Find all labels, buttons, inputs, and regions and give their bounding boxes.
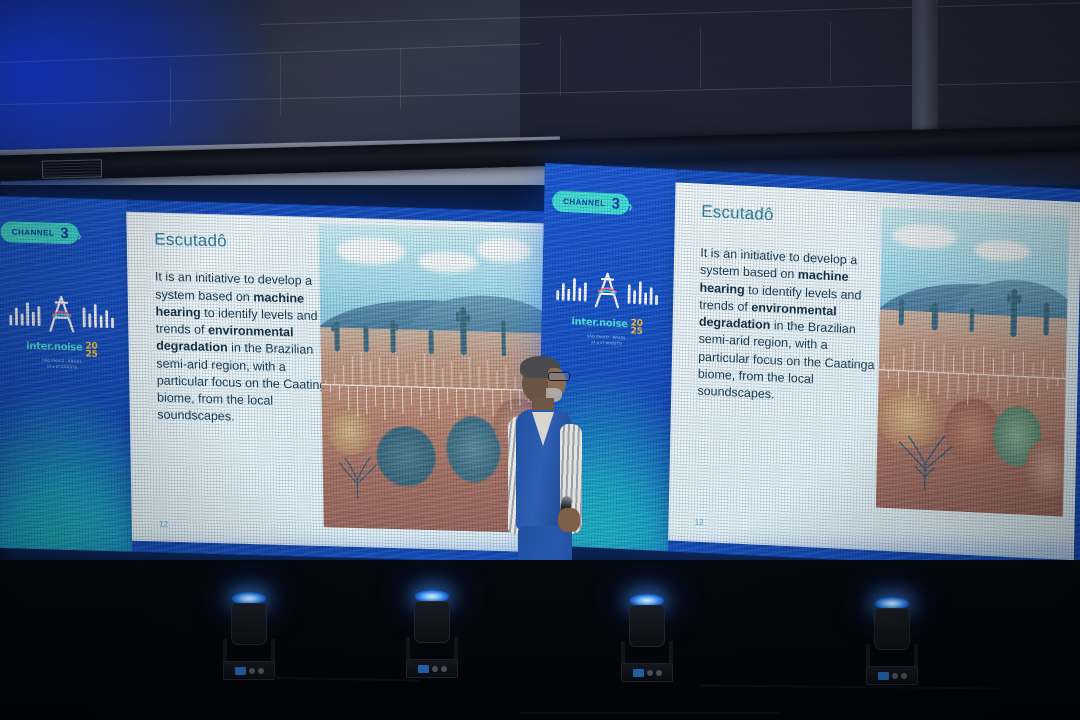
slide-content-card: Escutadô It is an initiative to develop … [127, 212, 550, 553]
logo-year: 20 25 [85, 343, 97, 359]
light-yoke [621, 641, 673, 663]
light-yoke [223, 639, 275, 661]
logo-year: 20 25 [630, 319, 642, 336]
light-yoke [866, 644, 918, 666]
wordmark-text: inter.noise [26, 341, 82, 354]
light-display [878, 672, 889, 680]
light-display [633, 669, 644, 677]
light-knob [892, 673, 898, 679]
bare-tree [327, 424, 387, 529]
light-base [621, 663, 673, 682]
logo-dates: 24 a 27 AGOSTO [591, 341, 622, 348]
light-knob [441, 666, 447, 672]
logo-dates: 24 a 27 AGOSTO [47, 365, 78, 371]
channel-number: 3 [60, 226, 69, 241]
tower-soundwave-logo-icon [552, 267, 663, 318]
wordmark-text: inter.noise [571, 317, 627, 331]
bare-tree [887, 406, 964, 517]
ceiling-panel-seam [400, 48, 401, 108]
slide-title: Escutadô [154, 229, 227, 251]
light-knob [249, 668, 255, 674]
internoise-wordmark: inter.noise 20 25 [571, 317, 642, 336]
slide-body-text: It is an initiative to develop a system … [697, 245, 879, 409]
caatinga-photo [876, 207, 1069, 516]
slide-left: CHANNEL 3 › [0, 196, 559, 564]
channel-badge: CHANNEL 3 [0, 221, 78, 244]
slide-right: CHANNEL 3 › [537, 163, 1080, 572]
slide-page-number: 12 [159, 520, 168, 529]
slide-sidebar: CHANNEL 3 › [0, 196, 133, 552]
light-display [418, 665, 429, 673]
presenter-glasses [548, 372, 570, 381]
ceiling-panel-seam [170, 66, 171, 126]
chevron-right-icon: › [628, 200, 633, 215]
tower-soundwave-logo-icon [4, 291, 118, 340]
ceiling-panel-seam [280, 55, 281, 115]
cactus [898, 298, 904, 325]
channel-label: CHANNEL [563, 197, 606, 208]
channel-label: CHANNEL [12, 227, 55, 237]
left-led-screen: CHANNEL 3 › [0, 196, 559, 564]
moving-head-light [620, 594, 674, 682]
internoise-wordmark: inter.noise 20 25 [26, 341, 98, 359]
light-knob [901, 673, 907, 679]
internoise-logo: inter.noise 20 25 SÃO PAULO - BRAZIL 24 … [4, 291, 118, 371]
light-yoke [406, 637, 458, 659]
cactus [969, 308, 974, 332]
slide-content-card: Escutadô It is an initiative to develop … [668, 183, 1080, 560]
internoise-logo: inter.noise 20 25 SÃO PAULO - BRAZIL 24 … [552, 267, 663, 350]
cactus [932, 303, 938, 330]
light-knob [432, 666, 438, 672]
light-knob [656, 670, 662, 676]
presentation-stage-photo: CHANNEL 3 › [0, 0, 1080, 720]
slide-page-number: 12 [695, 518, 704, 527]
ceiling-panel-seam [830, 22, 831, 82]
presenter-hands [558, 508, 580, 532]
right-led-screen: CHANNEL 3 › [537, 163, 1080, 572]
light-knob [647, 670, 653, 676]
ceiling-column [912, 0, 938, 150]
channel-number: 3 [611, 196, 620, 211]
sidebar-wave-shape [0, 385, 133, 552]
slide-body-text: It is an initiative to develop a system … [155, 269, 341, 429]
cactus [1010, 289, 1017, 337]
ceiling-panel-seam [560, 36, 561, 96]
ceiling-panel-seam [700, 28, 701, 88]
moving-head-light [865, 597, 919, 685]
slide-title: Escutadô [701, 202, 774, 226]
shrub [1025, 436, 1068, 498]
light-display [235, 667, 246, 675]
cactus [460, 307, 467, 356]
light-base [406, 659, 458, 678]
light-base [866, 666, 918, 685]
moving-head-light [405, 590, 459, 678]
light-knob [258, 668, 264, 674]
moving-head-light [222, 592, 276, 680]
chevron-right-icon: › [77, 228, 82, 243]
channel-badge: CHANNEL 3 [552, 190, 630, 215]
air-vent-grille [42, 159, 102, 179]
stage-cable [520, 712, 780, 714]
audio-waveform-overlay [878, 333, 1066, 414]
cactus [1044, 302, 1050, 335]
